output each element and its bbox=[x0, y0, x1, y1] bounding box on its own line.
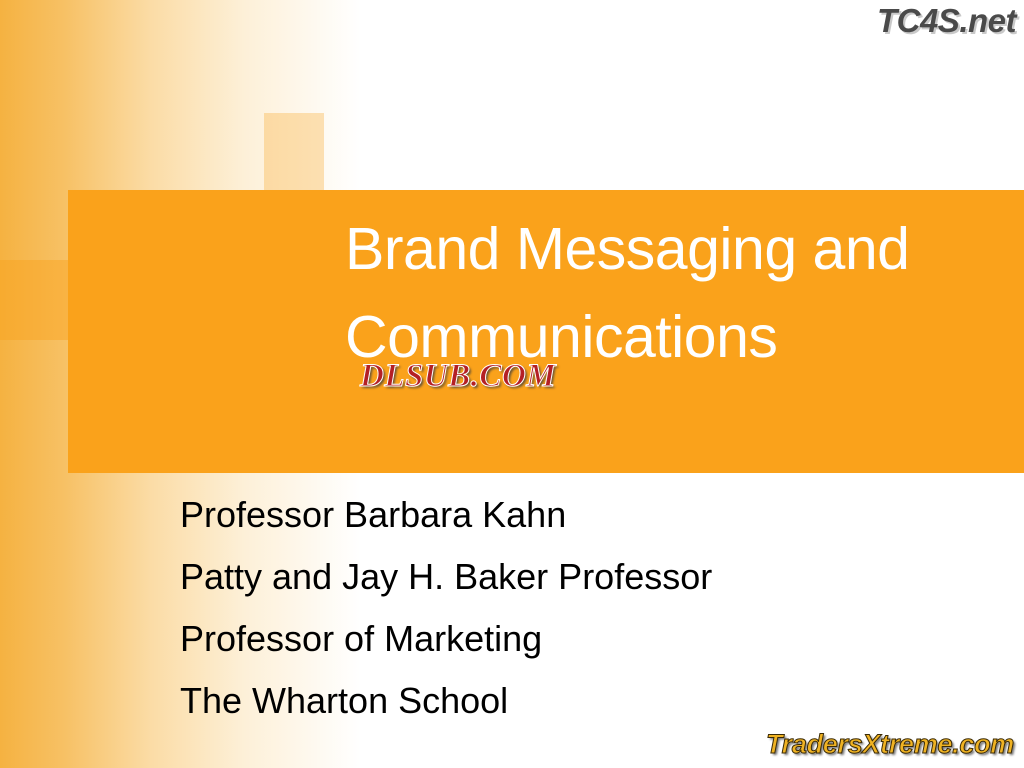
subtitle-line-4: The Wharton School bbox=[180, 670, 1000, 732]
subtitle-line-2: Patty and Jay H. Baker Professor bbox=[180, 546, 1000, 608]
watermark-bottom-right: TradersXtreme.com bbox=[766, 729, 1014, 760]
slide-subtitle: Professor Barbara Kahn Patty and Jay H. … bbox=[180, 484, 1000, 732]
decor-square-6 bbox=[0, 260, 74, 340]
watermark-top-right: TC4S.net bbox=[877, 2, 1016, 40]
watermark-center: DLSUB.COM bbox=[360, 358, 556, 395]
presentation-slide: Brand Messaging and Communications Profe… bbox=[0, 0, 1024, 768]
slide-title-line-1: Brand Messaging and bbox=[345, 205, 1005, 293]
subtitle-line-1: Professor Barbara Kahn bbox=[180, 484, 1000, 546]
subtitle-line-3: Professor of Marketing bbox=[180, 608, 1000, 670]
decor-square-1 bbox=[264, 113, 324, 190]
slide-title: Brand Messaging and Communications bbox=[345, 205, 1005, 381]
